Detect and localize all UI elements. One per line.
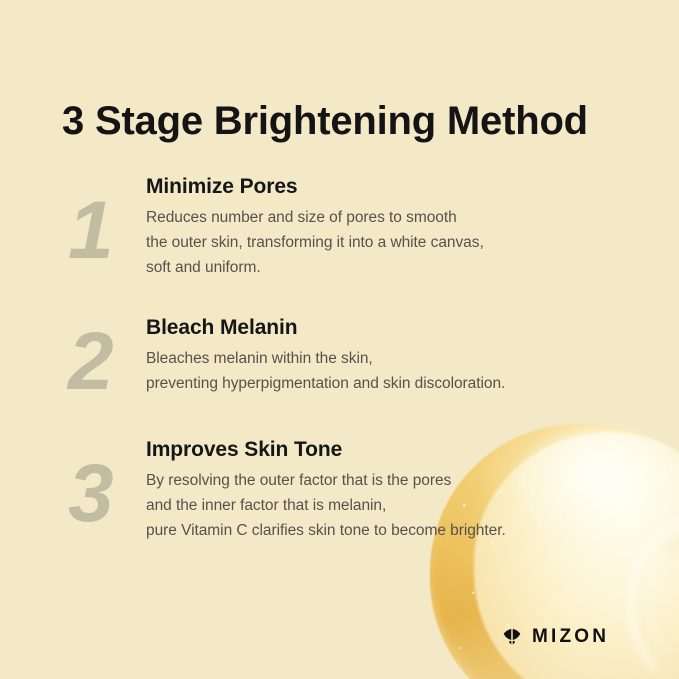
- step-description-line: pure Vitamin C clarifies skin tone to be…: [146, 518, 642, 543]
- step-item: 2 Bleach Melanin Bleaches melanin within…: [62, 307, 642, 403]
- step-number: 2: [62, 321, 146, 403]
- steps-list: 1 Minimize Pores Reduces number and size…: [62, 166, 642, 543]
- step-description-line: Bleaches melanin within the skin,: [146, 346, 642, 371]
- step-body: Improves Skin Tone By resolving the oute…: [146, 429, 642, 544]
- step-description: By resolving the outer factor that is th…: [146, 468, 642, 543]
- product-swirl-inner: [646, 530, 679, 676]
- step-number: 3: [62, 453, 146, 535]
- step-description: Reduces number and size of pores to smoo…: [146, 205, 642, 280]
- step-description-line: and the inner factor that is melanin,: [146, 493, 642, 518]
- step-body: Minimize Pores Reduces number and size o…: [146, 166, 642, 281]
- step-heading: Minimize Pores: [146, 174, 642, 199]
- page-title: 3 Stage Brightening Method: [62, 99, 588, 144]
- mizon-butterfly-icon: [501, 625, 523, 647]
- step-description: Bleaches melanin within the skin, preven…: [146, 346, 642, 396]
- step-description-line: By resolving the outer factor that is th…: [146, 468, 642, 493]
- step-item: 3 Improves Skin Tone By resolving the ou…: [62, 429, 642, 544]
- step-heading: Bleach Melanin: [146, 315, 642, 340]
- step-description-line: preventing hyperpigmentation and skin di…: [146, 371, 642, 396]
- step-description-line: Reduces number and size of pores to smoo…: [146, 205, 642, 230]
- step-description-line: soft and uniform.: [146, 255, 642, 280]
- brand-logo: MIZON: [501, 625, 609, 647]
- brand-name: MIZON: [532, 627, 609, 646]
- step-item: 1 Minimize Pores Reduces number and size…: [62, 166, 642, 281]
- step-body: Bleach Melanin Bleaches melanin within t…: [146, 307, 642, 396]
- step-heading: Improves Skin Tone: [146, 437, 642, 462]
- step-number: 1: [62, 190, 146, 272]
- promo-page: 3 Stage Brightening Method 1 Minimize Po…: [0, 0, 679, 679]
- step-description-line: the outer skin, transforming it into a w…: [146, 230, 642, 255]
